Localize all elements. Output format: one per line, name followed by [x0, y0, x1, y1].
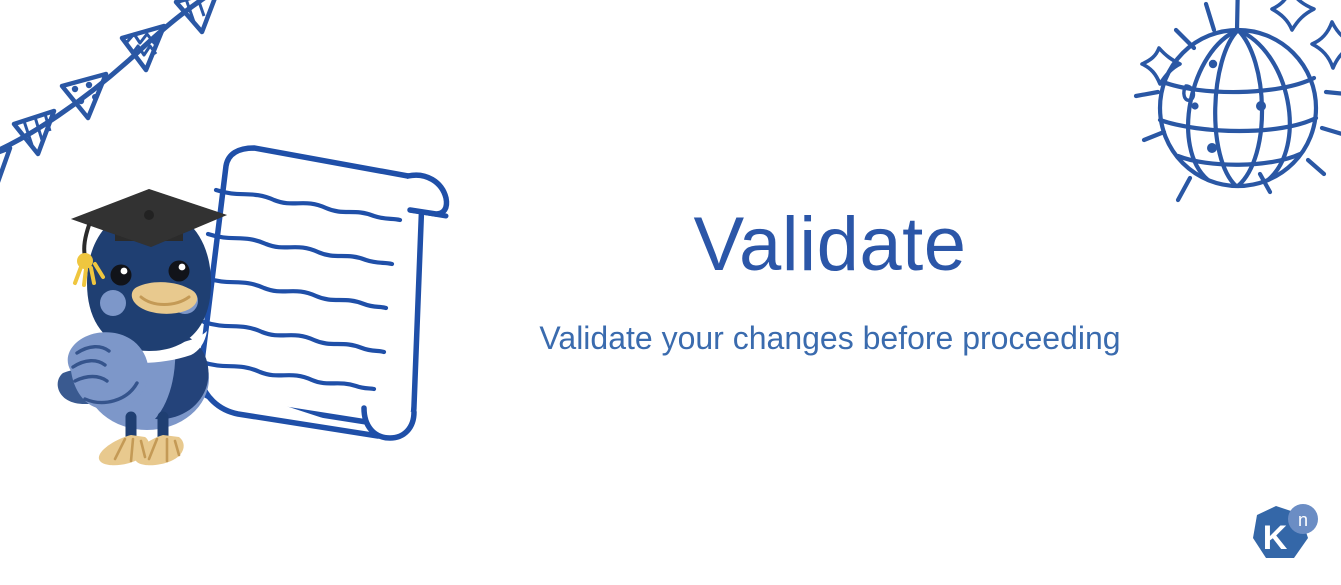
certificate-scroll-icon — [178, 138, 463, 453]
brand-logo[interactable]: K n — [1248, 500, 1320, 572]
page-subtitle: Validate your changes before proceeding — [460, 319, 1200, 357]
graduate-bird-mascot-icon — [55, 185, 245, 470]
disco-ball-icon — [1118, 0, 1341, 231]
logo-primary-letter: K — [1263, 519, 1288, 557]
page-title: Validate — [460, 205, 1200, 285]
bunting-garland-icon — [0, 0, 238, 190]
slide-canvas: Validate Validate your changes before pr… — [0, 0, 1341, 585]
logo-secondary-letter: n — [1298, 510, 1308, 530]
hero-text-block: Validate Validate your changes before pr… — [460, 205, 1200, 357]
